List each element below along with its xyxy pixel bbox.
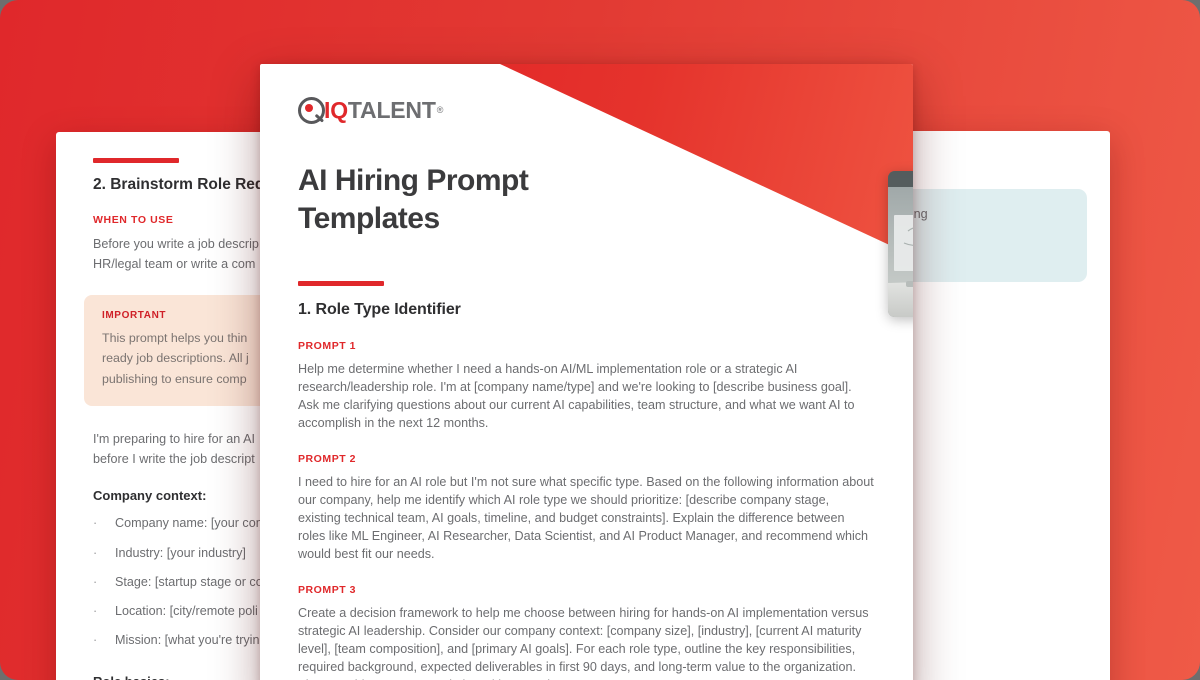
team-meeting-photo-graphic bbox=[888, 171, 913, 317]
prompt-text: Create a decision framework to help me c… bbox=[298, 604, 874, 680]
prompt-label: PROMPT 1 bbox=[298, 340, 875, 352]
bullet-icon: · bbox=[93, 631, 115, 649]
q-circle-icon bbox=[298, 97, 325, 124]
bullet-icon: · bbox=[93, 602, 115, 620]
screenshot-stage: 2. Brainstorm Role Req WHEN TO USE Befor… bbox=[0, 0, 1200, 680]
logo-text-talent: TALENT bbox=[348, 97, 436, 124]
logo-text-iq: IQ bbox=[324, 97, 348, 124]
list-item-label: Industry: [your industry] bbox=[115, 544, 246, 562]
prompt-text: I need to hire for an AI role but I'm no… bbox=[298, 473, 874, 563]
section-heading: 1. Role Type Identifier bbox=[298, 301, 875, 319]
accent-rule bbox=[93, 158, 179, 163]
iqtalent-logo: IQ TALENT ® bbox=[298, 95, 875, 125]
logo-tail-icon bbox=[315, 114, 325, 123]
list-item-label: Company name: [your com bbox=[115, 514, 266, 532]
bullet-icon: · bbox=[93, 514, 115, 532]
team-meeting-photo bbox=[888, 171, 913, 317]
logo-trademark: ® bbox=[437, 105, 444, 115]
list-item-label: Stage: [startup stage or co bbox=[115, 573, 263, 591]
bullet-icon: · bbox=[93, 544, 115, 562]
logo-dot-icon bbox=[305, 104, 313, 112]
prompt-label: PROMPT 3 bbox=[298, 584, 875, 596]
list-item-label: Mission: [what you're tryin bbox=[115, 631, 259, 649]
bullet-icon: · bbox=[93, 573, 115, 591]
document-card-front[interactable]: IQ TALENT ® AI Hiring Prompt Templates 1… bbox=[260, 64, 913, 680]
list-item-label: Location: [city/remote poli bbox=[115, 602, 258, 620]
accent-rule bbox=[298, 281, 384, 286]
prompt-text: Help me determine whether I need a hands… bbox=[298, 360, 874, 432]
page-title: AI Hiring Prompt Templates bbox=[298, 162, 598, 237]
prompt-label: PROMPT 2 bbox=[298, 453, 875, 465]
